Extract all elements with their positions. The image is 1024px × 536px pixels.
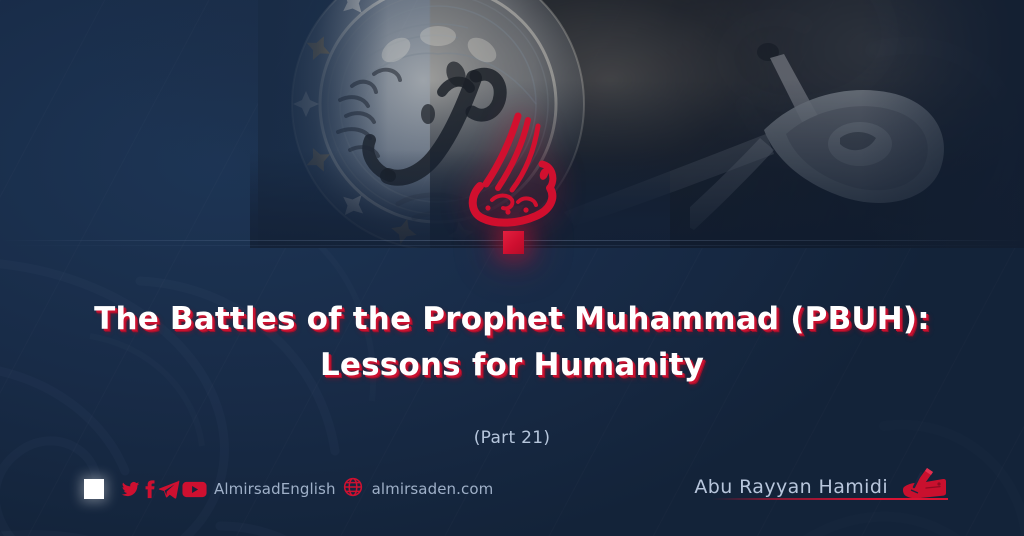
page-title: The Battles of the Prophet Muhammad (PBU… (0, 296, 1024, 388)
divider-accent-square (503, 231, 524, 254)
writing-hand-icon (902, 467, 946, 501)
website-label[interactable]: almirsaden.com (372, 480, 494, 498)
hero-image-area (0, 0, 1024, 248)
author-name-label: Abu Rayyan Hamidi (694, 476, 888, 498)
author-underline (712, 498, 948, 500)
facebook-icon[interactable] (143, 480, 156, 499)
telegram-icon[interactable] (158, 480, 180, 499)
photo-right-fade (860, 0, 1024, 248)
globe-icon[interactable] (343, 477, 363, 501)
footer-social-bar: AlmirsadEnglish almirsaden.com (84, 477, 493, 501)
title-line-2: Lessons for Humanity (0, 342, 1024, 388)
presentation-slide: The Battles of the Prophet Muhammad (PBU… (0, 0, 1024, 536)
almirsad-arabic-logo (452, 108, 580, 236)
twitter-icon[interactable] (120, 480, 141, 499)
youtube-icon[interactable] (182, 480, 207, 499)
title-line-1: The Battles of the Prophet Muhammad (PBU… (0, 296, 1024, 342)
arabesque-watermark-bottom-right (764, 376, 1024, 536)
social-handle-label: AlmirsadEnglish (214, 480, 336, 498)
social-icon-group (120, 480, 207, 499)
part-label: (Part 21) (0, 428, 1024, 448)
square-mark-icon (84, 479, 104, 499)
